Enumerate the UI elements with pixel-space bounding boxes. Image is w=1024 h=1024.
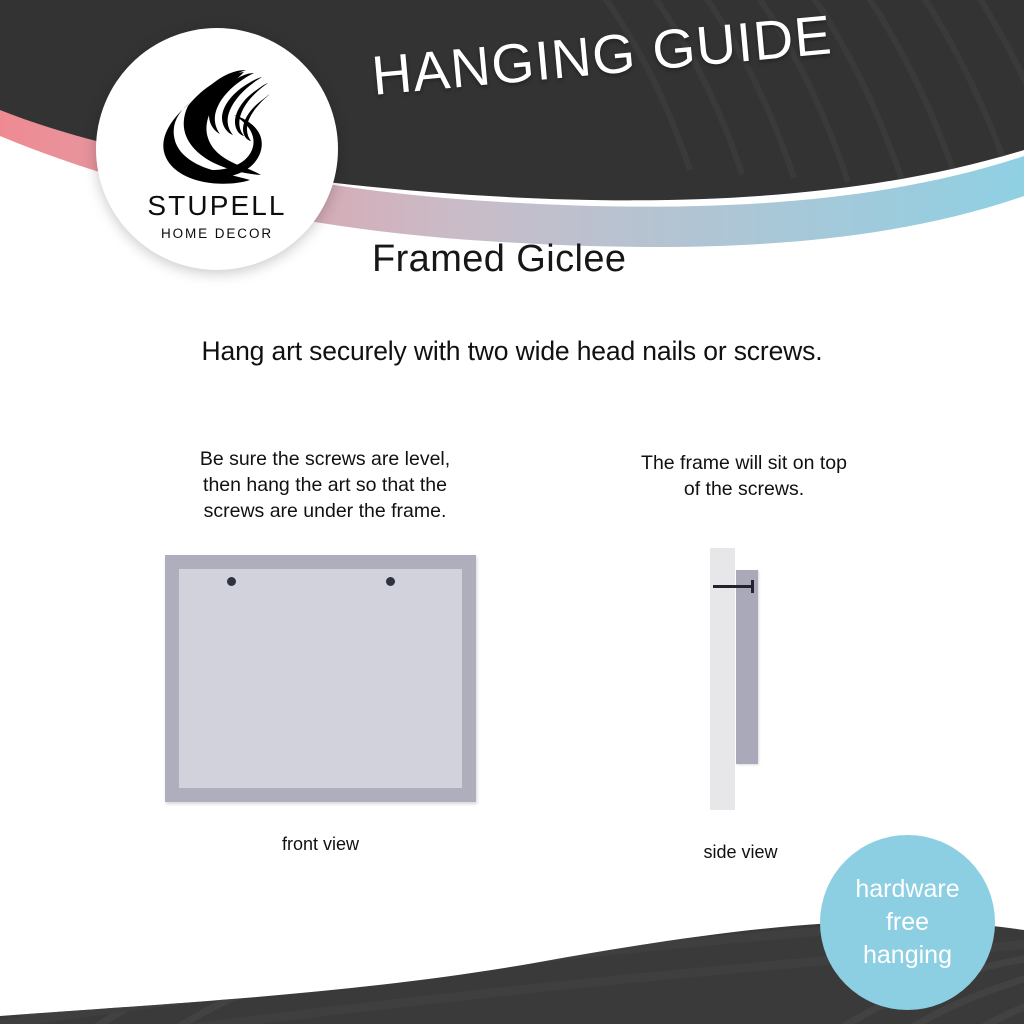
screw-dot-left bbox=[227, 577, 236, 586]
hanging-guide-page: 0% bbox=[0, 0, 1024, 1024]
side-view-frame-diagram bbox=[700, 548, 780, 810]
brand-tagline: HOME DECOR bbox=[161, 227, 273, 241]
badge-line-2: free bbox=[886, 906, 929, 939]
page-title: HANGING GUIDE bbox=[369, 2, 835, 108]
main-instruction-text: Hang art securely with two wide head nai… bbox=[0, 336, 1024, 367]
badge-line-1: hardware bbox=[855, 873, 959, 906]
front-view-caption-line-2: then hang the art so that the bbox=[160, 472, 490, 498]
stupell-swoosh-logo-icon bbox=[158, 58, 276, 186]
front-view-artwork-mat bbox=[179, 569, 462, 788]
side-view-label: side view bbox=[648, 842, 833, 863]
badge-line-3: hanging bbox=[863, 939, 952, 972]
hardware-free-hanging-badge: hardware free hanging bbox=[820, 835, 995, 1010]
brand-name: STUPELL bbox=[147, 192, 286, 220]
nail-head-icon bbox=[751, 580, 754, 593]
side-view-caption-line-1: The frame will sit on top bbox=[598, 450, 890, 476]
front-view-frame-diagram bbox=[165, 555, 476, 802]
front-view-label: front view bbox=[165, 834, 476, 855]
front-view-caption: Be sure the screws are level, then hang … bbox=[160, 446, 490, 524]
front-view-caption-line-3: screws are under the frame. bbox=[160, 498, 490, 524]
nail-shaft-icon bbox=[713, 585, 753, 588]
side-view-caption-line-2: of the screws. bbox=[598, 476, 890, 502]
screw-dot-right bbox=[386, 577, 395, 586]
product-type-title: Framed Giclee bbox=[372, 238, 626, 281]
side-view-frame-panel bbox=[736, 570, 758, 764]
brand-logo-badge: STUPELL HOME DECOR bbox=[96, 28, 338, 270]
side-view-caption: The frame will sit on top of the screws. bbox=[598, 450, 890, 502]
front-view-caption-line-1: Be sure the screws are level, bbox=[160, 446, 490, 472]
